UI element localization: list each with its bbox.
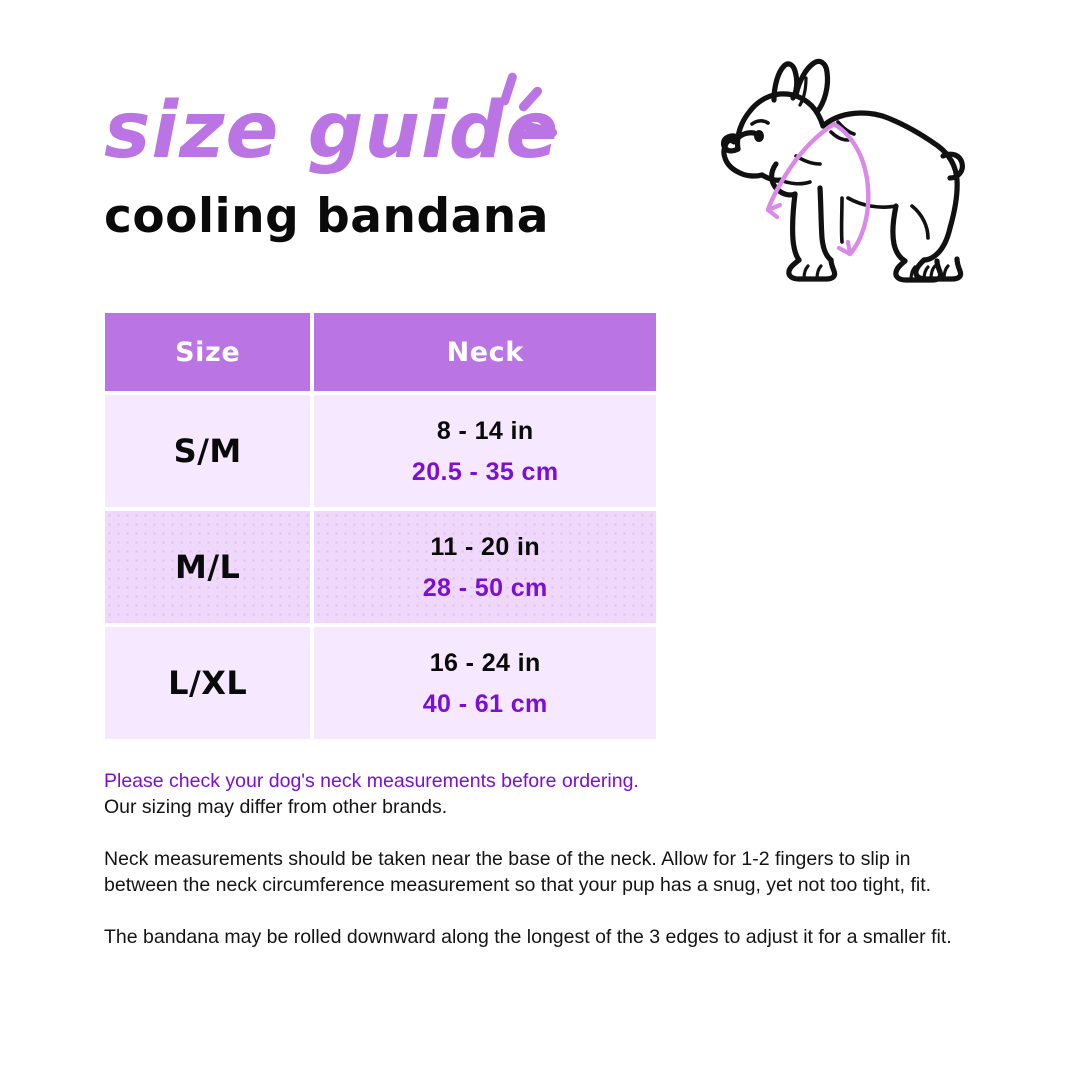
cell-neck-value: 8 - 14 in 20.5 - 35 cm (314, 395, 656, 507)
note-sizing-differs: Our sizing may differ from other brands. (104, 794, 984, 820)
size-table: Size Neck S/M 8 - 14 in 20.5 - 35 cm M/L… (101, 309, 660, 743)
table-row: M/L 11 - 20 in 28 - 50 cm (105, 511, 656, 623)
cell-size-value: L/XL (105, 627, 310, 739)
neck-centimeters: 28 - 50 cm (314, 571, 656, 605)
note-spacer (104, 820, 984, 846)
table-body: S/M 8 - 14 in 20.5 - 35 cm M/L 11 - 20 i… (105, 395, 656, 739)
neck-inches: 16 - 24 in (314, 646, 656, 680)
column-header-size: Size (105, 313, 310, 391)
page-subtitle: cooling bandana (104, 188, 724, 246)
header-block: size guide cooling bandana (104, 88, 724, 246)
note-spacer (104, 898, 984, 924)
table-row: S/M 8 - 14 in 20.5 - 35 cm (105, 395, 656, 507)
cell-neck-value: 16 - 24 in 40 - 61 cm (314, 627, 656, 739)
note-highlight: Please check your dog's neck measurement… (104, 768, 984, 794)
notes-section: Please check your dog's neck measurement… (104, 768, 984, 950)
cell-neck-value: 11 - 20 in 28 - 50 cm (314, 511, 656, 623)
neck-centimeters: 40 - 61 cm (314, 687, 656, 721)
table-head: Size Neck (105, 313, 656, 391)
page-title: size guide (104, 88, 559, 174)
french-bulldog-icon (700, 48, 976, 284)
neck-inches: 8 - 14 in (314, 414, 656, 448)
neck-centimeters: 20.5 - 35 cm (314, 455, 656, 489)
cell-size-value: S/M (105, 395, 310, 507)
table-header-row: Size Neck (105, 313, 656, 391)
table-row: L/XL 16 - 24 in 40 - 61 cm (105, 627, 656, 739)
neck-inches: 11 - 20 in (314, 530, 656, 564)
cell-size-value: M/L (105, 511, 310, 623)
note-rolling-instructions: The bandana may be rolled downward along… (104, 924, 984, 950)
title-row: size guide (104, 88, 559, 174)
column-header-neck: Neck (314, 313, 656, 391)
note-measuring-instructions: Neck measurements should be taken near t… (104, 846, 984, 898)
